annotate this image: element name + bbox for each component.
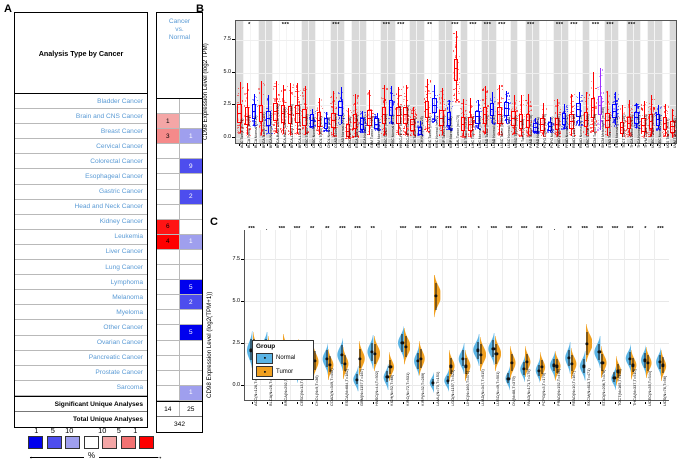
data-point bbox=[530, 106, 531, 107]
x-tick-mark bbox=[660, 402, 661, 404]
x-axis-label: BRCA-LumA Tumor (n=564) bbox=[290, 104, 294, 148]
cancer-row-liver-cancer: Liver Cancer bbox=[15, 245, 147, 260]
cancer-row-lymphoma: Lymphoma bbox=[15, 275, 147, 290]
overexpression-cell bbox=[157, 159, 180, 173]
grid-line bbox=[396, 230, 397, 400]
x-axis-label: BRCA-Her2 Tumor (n=82) bbox=[283, 107, 287, 148]
x-axis-label: PAAD Normal (n=4) bbox=[536, 117, 540, 148]
overexpression-cell bbox=[157, 371, 180, 385]
x-axis-label: THCA(N=337,T=510) bbox=[632, 369, 637, 406]
x-axis-label: COAD Normal (n=41) bbox=[341, 114, 345, 148]
significance-marker: *** bbox=[570, 22, 577, 28]
overexpression-cell bbox=[157, 174, 180, 188]
data-point bbox=[372, 113, 373, 114]
overexpression-cell bbox=[157, 280, 180, 294]
x-tick-mark bbox=[606, 144, 607, 146]
overexpression-cell bbox=[157, 190, 180, 204]
legend-number: 1 bbox=[127, 426, 144, 435]
x-tick-mark bbox=[657, 144, 658, 146]
overexpression-cell bbox=[157, 310, 180, 324]
grid-line bbox=[457, 230, 458, 400]
x-axis-label: LUSC Tumor (n=501) bbox=[500, 115, 504, 148]
x-tick-mark bbox=[491, 144, 492, 146]
x-tick-mark bbox=[252, 402, 253, 404]
significance-marker: *** bbox=[606, 22, 613, 28]
overexpression-cell bbox=[157, 205, 180, 219]
x-tick-mark bbox=[556, 144, 557, 146]
x-tick-mark bbox=[342, 402, 343, 404]
data-point bbox=[437, 101, 438, 102]
x-axis-label: READ(N=10,T=167) bbox=[571, 371, 576, 406]
overexpression-cell bbox=[157, 341, 180, 355]
significance-marker: ** bbox=[325, 226, 329, 232]
overexpression-cell bbox=[157, 265, 180, 279]
legend-label: Normal bbox=[276, 355, 295, 361]
x-axis-label: TGCT(N=165,T=156) bbox=[617, 369, 622, 406]
cancer-row-breast-cancer: Breast Cancer bbox=[15, 124, 147, 139]
x-tick-mark bbox=[643, 144, 644, 146]
x-tick-mark bbox=[405, 144, 406, 146]
x-tick-mark bbox=[615, 402, 616, 404]
cancer-label: Esophageal Cancer bbox=[85, 173, 143, 180]
x-axis-label: STAD Normal (n=35) bbox=[615, 115, 619, 148]
x-tick-mark bbox=[390, 144, 391, 146]
x-tick-mark bbox=[539, 402, 540, 404]
x-axis-label: LUSC Normal (n=51) bbox=[507, 115, 511, 148]
x-axis-label: UCS(N=78,T=56) bbox=[662, 376, 667, 406]
x-axis-label: TGCT Tumor (n=156) bbox=[622, 115, 626, 149]
cancer-row-pancreatic-cancer: Pancreatic Cancer bbox=[15, 351, 147, 366]
legend-item-tumor[interactable]: Tumor bbox=[256, 366, 310, 377]
x-axis-label: DLBC Tumor (n=48) bbox=[348, 117, 352, 148]
data-point bbox=[530, 110, 531, 111]
cancer-row-bladder-cancer: Bladder Cancer bbox=[15, 94, 147, 109]
legend-items: NormalTumor bbox=[256, 353, 310, 378]
data-point bbox=[293, 84, 294, 85]
x-axis-label: LIHC(N=160,T=371) bbox=[465, 371, 470, 406]
x-tick-mark bbox=[498, 144, 499, 146]
x-axis-label: LGG Tumor (n=516) bbox=[464, 117, 468, 148]
x-axis-label: LIHC Normal (n=50) bbox=[478, 117, 482, 148]
x-axis-label: SKCM(N=813,T=471) bbox=[586, 368, 591, 406]
x-tick-mark bbox=[554, 402, 555, 404]
x-axis-label: STAD(N=206,T=376) bbox=[601, 370, 606, 406]
cancer-row-prostate-cancer: Prostate Cancer bbox=[15, 366, 147, 381]
data-point bbox=[459, 78, 460, 79]
data-point bbox=[343, 108, 344, 109]
cancer-label: Lung Cancer bbox=[105, 264, 143, 271]
x-tick-mark bbox=[361, 144, 362, 146]
x-axis-label: OV Tumor (n=303) bbox=[521, 119, 525, 148]
cancer-label: Liver Cancer bbox=[106, 248, 143, 255]
x-axis-label: PRAD Tumor (n=497) bbox=[557, 114, 561, 148]
x-tick-mark bbox=[325, 144, 326, 146]
overexpression-cell bbox=[157, 356, 180, 370]
cancer-label: Ovarian Cancer bbox=[97, 339, 143, 346]
x-tick-mark bbox=[383, 144, 384, 146]
x-tick-mark bbox=[318, 144, 319, 146]
x-tick-mark bbox=[441, 144, 442, 146]
x-axis-label: HNSC Tumor (n=520) bbox=[384, 114, 388, 148]
x-tick-mark bbox=[448, 144, 449, 146]
significance-marker: *** bbox=[628, 22, 635, 28]
x-tick-mark bbox=[520, 144, 521, 146]
x-axis-label: READ Tumor (n=166) bbox=[572, 114, 576, 148]
x-tick-mark bbox=[418, 402, 419, 404]
x-tick-mark bbox=[246, 144, 247, 146]
legend-swatch bbox=[121, 436, 136, 449]
grid-line bbox=[563, 230, 564, 400]
overexpression-cell bbox=[157, 144, 180, 158]
x-axis-label: PAAD(N=171,T=179) bbox=[526, 369, 531, 406]
data-point bbox=[501, 85, 502, 86]
x-tick-mark bbox=[621, 144, 622, 146]
data-point bbox=[393, 101, 394, 102]
analysis-type-grid: Analysis Type by Cancer Bladder CancerBr… bbox=[14, 12, 148, 428]
x-axis-label: LUAD Normal (n=59) bbox=[492, 115, 496, 148]
x-tick-mark bbox=[433, 402, 434, 404]
significance-marker: *** bbox=[294, 226, 301, 232]
data-point bbox=[631, 112, 632, 113]
overexpression-cell bbox=[157, 250, 180, 264]
x-axis-label: BLCA Normal (n=19) bbox=[254, 116, 258, 148]
y-tick-label: 0.0 bbox=[218, 382, 240, 388]
x-axis-label: LAML Tumor (n=173) bbox=[456, 115, 460, 148]
x-tick-mark bbox=[340, 144, 341, 146]
cancer-label: Kidney Cancer bbox=[100, 218, 143, 225]
x-tick-mark bbox=[494, 402, 495, 404]
x-tick-mark bbox=[296, 144, 297, 146]
x-tick-mark bbox=[297, 402, 298, 404]
x-tick-mark bbox=[570, 402, 571, 404]
y-tick-label: 0.0 bbox=[211, 134, 231, 140]
significance-marker: *** bbox=[332, 22, 339, 28]
data-point bbox=[480, 100, 481, 101]
cancer-row-other-cancer: Other Cancer bbox=[15, 320, 147, 335]
data-point bbox=[386, 88, 387, 89]
legend-number: 10 bbox=[61, 426, 78, 435]
x-tick-mark bbox=[635, 144, 636, 146]
data-point bbox=[509, 108, 510, 109]
data-point bbox=[509, 95, 510, 96]
significance-marker: *** bbox=[451, 22, 458, 28]
x-axis-label: HNSC Normal (n=44) bbox=[391, 115, 395, 148]
cancer-row-leukemia: Leukemia bbox=[15, 230, 147, 245]
x-tick-mark bbox=[600, 402, 601, 404]
x-axis-label: ACC Tumor (n=79) bbox=[240, 119, 244, 148]
overexpression-cell bbox=[157, 325, 180, 339]
x-axis-label: COAD Tumor (n=457) bbox=[334, 114, 338, 148]
data-point bbox=[654, 99, 655, 100]
data-point bbox=[524, 114, 525, 115]
x-tick-mark bbox=[509, 402, 510, 404]
cancer-row-lung-cancer: Lung Cancer bbox=[15, 260, 147, 275]
overexpression-cell: 3 bbox=[157, 129, 180, 143]
x-tick-mark bbox=[455, 144, 456, 146]
x-axis-label: HNSC-HPV- Tumor (n=421) bbox=[406, 105, 410, 148]
significance-marker: *** bbox=[445, 226, 452, 232]
legend-label: Tumor bbox=[276, 369, 293, 375]
grid-line bbox=[624, 230, 625, 400]
data-point bbox=[336, 107, 337, 108]
legend-percent-axis: ← → % bbox=[28, 451, 163, 465]
significance-marker: *** bbox=[469, 22, 476, 28]
legend-swatch bbox=[84, 436, 99, 449]
x-axis-label: THCA Tumor (n=501) bbox=[630, 115, 634, 148]
x-axis-label: LAML(N=70,T=151) bbox=[435, 372, 440, 406]
data-point bbox=[257, 106, 258, 107]
x-axis-label: READ Normal (n=10) bbox=[579, 115, 583, 148]
total-analyses-label: Total Unique Analyses bbox=[73, 416, 143, 423]
y-tick-label: 7.5 bbox=[211, 36, 231, 42]
cancer-label: Leukemia bbox=[114, 233, 143, 240]
legend-number bbox=[78, 426, 95, 435]
x-axis-label: BRCA-Basal Tumor (n=190) bbox=[276, 104, 280, 148]
significance-marker: *** bbox=[581, 226, 588, 232]
x-axis-label: CHOL(N=9,T=36) bbox=[314, 375, 319, 406]
x-tick-mark bbox=[542, 144, 543, 146]
cancer-label: Brain and CNS Cancer bbox=[76, 113, 143, 120]
x-tick-mark bbox=[397, 144, 398, 146]
data-point bbox=[516, 110, 517, 111]
grid-line bbox=[472, 230, 473, 400]
significance-marker: *** bbox=[536, 226, 543, 232]
x-tick-mark bbox=[312, 402, 313, 404]
data-point bbox=[596, 102, 597, 103]
significance-marker: *** bbox=[397, 22, 404, 28]
x-tick-mark bbox=[358, 402, 359, 404]
overexpression-cell bbox=[157, 99, 180, 113]
panel-b-x-axis-labels: ACC Tumor (n=79)BLCA Tumor (n=408)BLCA N… bbox=[235, 144, 675, 206]
cancer-row-myeloma: Myeloma bbox=[15, 305, 147, 320]
grid-line bbox=[487, 230, 488, 400]
y-tick-label: 5.0 bbox=[211, 69, 231, 75]
x-tick-mark bbox=[376, 144, 377, 146]
grid-line bbox=[336, 230, 337, 400]
x-tick-mark bbox=[585, 402, 586, 404]
data-point bbox=[458, 93, 459, 94]
significance-marker: *** bbox=[354, 226, 361, 232]
x-axis-label: KICH Tumor (n=66) bbox=[413, 118, 417, 148]
panel-b-tcga-boxplot: CD98 Expression Level (log2 TPM) 0.02.55… bbox=[192, 8, 678, 208]
x-tick-mark bbox=[671, 144, 672, 146]
x-tick-mark bbox=[412, 144, 413, 146]
total-analyses-label-row: Total Unique Analyses bbox=[15, 411, 147, 427]
x-axis-label: ESCA Tumor (n=184) bbox=[355, 115, 359, 148]
significance-marker: *** bbox=[506, 226, 513, 232]
x-axis-label: HNSC(N=44,T=502) bbox=[374, 371, 379, 406]
significance-marker: *** bbox=[400, 226, 407, 232]
x-axis-label: KIRP(N=32,T=289) bbox=[420, 373, 425, 406]
x-tick-mark bbox=[332, 144, 333, 146]
data-point bbox=[292, 87, 293, 88]
legend-right-arrow-icon: → bbox=[154, 452, 163, 461]
legend-swatches bbox=[28, 436, 163, 449]
x-tick-mark bbox=[304, 144, 305, 146]
cancer-row-melanoma: Melanoma bbox=[15, 290, 147, 305]
x-axis-label: LUAD(N=347,T=515) bbox=[480, 369, 485, 406]
x-tick-mark bbox=[570, 144, 571, 146]
x-axis-label: UCEC Tumor (n=545) bbox=[651, 114, 655, 148]
x-axis-label: LGG(N=1157,T=523) bbox=[450, 370, 455, 406]
x-axis-label: HNSC-HPV+ Tumor (n=97) bbox=[399, 106, 403, 148]
data-point bbox=[351, 112, 352, 113]
significance-marker: ** bbox=[371, 226, 375, 232]
legend-number: 1 bbox=[28, 426, 45, 435]
x-axis-label: STAD Tumor (n=415) bbox=[608, 115, 612, 148]
x-tick-mark bbox=[260, 144, 261, 146]
significance-marker: *** bbox=[592, 22, 599, 28]
cancer-label: Breast Cancer bbox=[101, 128, 143, 135]
x-tick-mark bbox=[347, 144, 348, 146]
x-axis-label: CESC Normal (n=3) bbox=[312, 117, 316, 148]
grid-line bbox=[593, 230, 594, 400]
x-tick-mark bbox=[282, 402, 283, 404]
data-point bbox=[352, 136, 353, 137]
x-axis-label: PAAD Tumor (n=178) bbox=[529, 115, 533, 148]
x-tick-mark bbox=[448, 402, 449, 404]
x-tick-mark bbox=[239, 144, 240, 146]
cancer-vs-normal-header-label: Cancervs.Normal bbox=[169, 18, 190, 43]
cancer-label: Colorectal Cancer bbox=[90, 158, 143, 165]
x-tick-mark bbox=[426, 144, 427, 146]
overexpression-cell: 6 bbox=[157, 220, 180, 234]
significance-marker: *** bbox=[415, 226, 422, 232]
panel-b-y-axis-label: CD98 Expression Level (log2 TPM) bbox=[194, 20, 206, 142]
data-point bbox=[668, 106, 669, 107]
x-axis-label: GBM(N=1157,T=167) bbox=[359, 369, 364, 406]
x-axis-label: PRAD Normal (n=52) bbox=[565, 115, 569, 148]
x-tick-mark bbox=[645, 402, 646, 404]
x-tick-mark bbox=[267, 144, 268, 146]
legend-swatch bbox=[256, 366, 273, 377]
x-tick-mark bbox=[275, 144, 276, 146]
data-point bbox=[444, 110, 445, 111]
legend-number: 10 bbox=[94, 426, 111, 435]
cancer-row-labels: Bladder CancerBrain and CNS CancerBreast… bbox=[15, 94, 147, 396]
cancer-label: Sarcoma bbox=[117, 384, 143, 391]
cancer-label: Melanoma bbox=[112, 294, 143, 301]
y-tick-label: 2.5 bbox=[211, 101, 231, 107]
x-tick-mark bbox=[267, 402, 268, 404]
panel-c-violin-plot: CD98 Expression Level (log2(TPM+1)) 0.02… bbox=[192, 212, 678, 470]
panel-a-oncomine-table: Analysis Type by Cancer Bladder CancerBr… bbox=[6, 12, 178, 412]
significance-marker: . bbox=[554, 226, 556, 232]
cancer-row-gastric-cancer: Gastric Cancer bbox=[15, 185, 147, 200]
x-tick-mark bbox=[585, 144, 586, 146]
cancer-label: Gastric Cancer bbox=[99, 188, 143, 195]
significance-marker: *** bbox=[657, 226, 664, 232]
data-point bbox=[581, 95, 582, 96]
significance-marker: *** bbox=[339, 226, 346, 232]
x-axis-label: ESCA Normal (n=11) bbox=[363, 115, 367, 148]
y-tick-label: 7.5 bbox=[218, 256, 240, 262]
x-axis-label: OV(N=88,T=379) bbox=[511, 376, 516, 406]
legend-swatch bbox=[28, 436, 43, 449]
significance-marker: *** bbox=[521, 226, 528, 232]
data-point bbox=[452, 106, 453, 107]
x-axis-label: KIRP Normal (n=32) bbox=[449, 116, 453, 148]
x-axis-label: KICH Normal (n=25) bbox=[420, 116, 424, 148]
cancer-row-esophageal-cancer: Esophageal Cancer bbox=[15, 169, 147, 184]
x-tick-mark bbox=[433, 144, 434, 146]
x-axis-label: BRCA-LumB Tumor (n=217) bbox=[298, 104, 302, 148]
cancer-row-sarcoma: Sarcoma bbox=[15, 381, 147, 396]
data-point bbox=[487, 105, 488, 106]
x-tick-mark bbox=[614, 144, 615, 146]
significance-marker: ** bbox=[427, 22, 432, 28]
x-axis-label: UCEC Normal (n=35) bbox=[658, 115, 662, 148]
legend-left-arrow-icon: ← bbox=[28, 452, 37, 461]
significance-marker: *** bbox=[484, 22, 491, 28]
x-axis-label: BLCA Tumor (n=408) bbox=[247, 115, 251, 148]
cancer-row-head-and-neck-cancer: Head and Neck Cancer bbox=[15, 200, 147, 215]
x-tick-mark bbox=[311, 144, 312, 146]
x-axis-label: LUAD Tumor (n=515) bbox=[485, 115, 489, 148]
x-tick-mark bbox=[354, 144, 355, 146]
legend-item-normal[interactable]: Normal bbox=[256, 353, 310, 364]
x-tick-mark bbox=[628, 144, 629, 146]
data-point bbox=[559, 112, 560, 113]
cancer-row-brain-and-cns-cancer: Brain and CNS Cancer bbox=[15, 109, 147, 124]
x-axis-label: UCEC(N=35,T=544) bbox=[647, 371, 652, 406]
overexpression-cell: 1 bbox=[157, 114, 180, 128]
x-axis-label: BRCA Tumor (n=1093) bbox=[262, 112, 266, 148]
x-tick-mark bbox=[630, 402, 631, 404]
panel-c-x-axis-labels: ACC(N=128,T=79)BLCA(N=28,T=408)BRCA(N=29… bbox=[244, 402, 668, 472]
x-axis-label: CHOL Normal (n=9) bbox=[327, 117, 331, 148]
data-point bbox=[285, 102, 286, 103]
significance-marker: *** bbox=[279, 226, 286, 232]
significant-up-count: 14 bbox=[157, 402, 180, 417]
legend-swatch bbox=[102, 436, 117, 449]
x-axis-label: GBM Normal (n=5) bbox=[377, 119, 381, 148]
x-tick-mark bbox=[403, 402, 404, 404]
x-axis-label: KICH(N=52,T=66) bbox=[389, 375, 394, 406]
overexpression-cell: 4 bbox=[157, 235, 180, 249]
legend-swatch bbox=[47, 436, 62, 449]
significance-marker: *** bbox=[430, 226, 437, 232]
cancer-label: Prostate Cancer bbox=[95, 369, 143, 376]
x-tick-mark bbox=[289, 144, 290, 146]
x-axis-label: THCA Normal (n=59) bbox=[637, 115, 641, 148]
significance-marker: ** bbox=[310, 226, 314, 232]
cancer-label: Bladder Cancer bbox=[97, 98, 143, 105]
significance-marker: *** bbox=[383, 22, 390, 28]
data-point bbox=[648, 136, 649, 137]
significance-marker: * bbox=[248, 22, 250, 28]
legend-numbers: 15101051 bbox=[28, 426, 163, 435]
x-axis-label: PCPG Normal (n=3) bbox=[550, 117, 554, 148]
data-point bbox=[466, 114, 467, 115]
analysis-type-header: Analysis Type by Cancer bbox=[15, 13, 147, 94]
x-tick-mark bbox=[469, 144, 470, 146]
significance-marker: *** bbox=[556, 22, 563, 28]
significance-marker: *** bbox=[612, 226, 619, 232]
panel-c-y-axis-label: CD98 Expression Level (log2(TPM+1)) bbox=[198, 230, 210, 400]
legend-number: 5 bbox=[111, 426, 128, 435]
y-tick-label: 2.5 bbox=[218, 340, 240, 346]
x-axis-label: KIRC Normal (n=72) bbox=[435, 116, 439, 148]
y-tick-label: 5.0 bbox=[218, 298, 240, 304]
x-tick-mark bbox=[282, 144, 283, 146]
data-point bbox=[257, 100, 258, 101]
x-tick-mark bbox=[524, 402, 525, 404]
data-point bbox=[242, 100, 243, 101]
significance-marker: * bbox=[478, 226, 480, 232]
data-point bbox=[589, 94, 590, 95]
x-tick-mark bbox=[650, 144, 651, 146]
